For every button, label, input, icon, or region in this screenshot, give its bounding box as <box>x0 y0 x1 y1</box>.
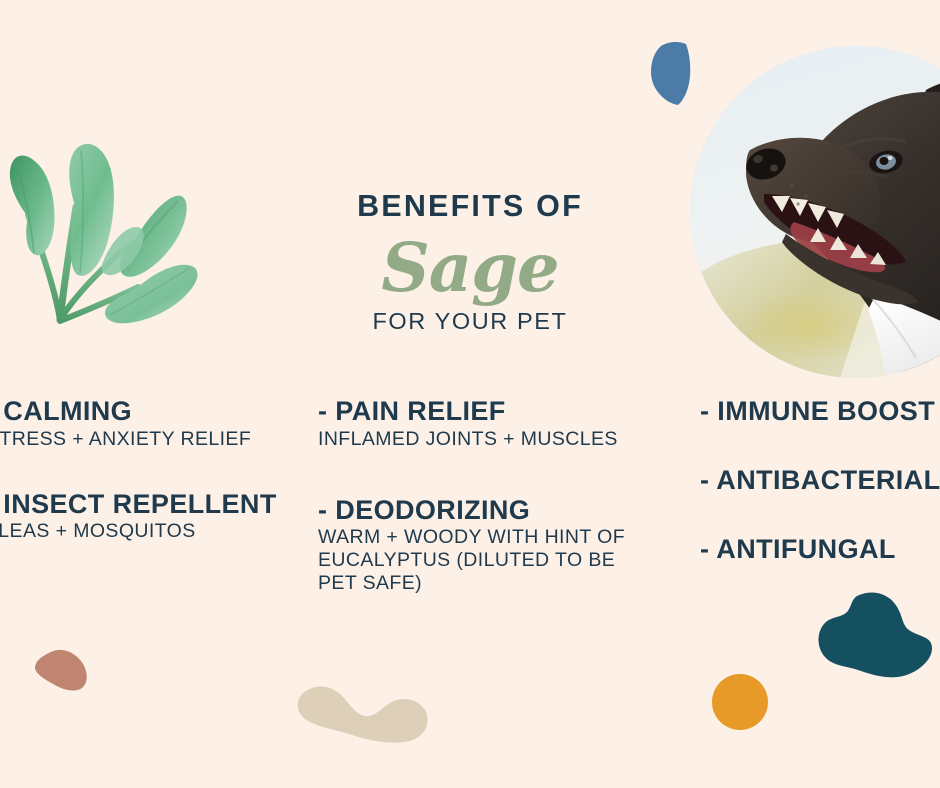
benefit-antibacterial-title: - ANTIBACTERIAL <box>700 465 940 496</box>
benefit-calming-desc: STRESS + ANXIETY RELIEF <box>0 428 286 451</box>
blue-crescent-shape <box>648 42 692 106</box>
heading-benefits-of: BENEFITS OF <box>268 190 672 224</box>
heading-sage-script: Sage <box>268 230 672 305</box>
benefit-pain-relief-title: - PAIN RELIEF <box>318 396 658 427</box>
title-block: BENEFITS OF Sage FOR YOUR PET <box>268 190 672 335</box>
sage-benefits-infographic: BENEFITS OF Sage FOR YOUR PET - CALMING … <box>0 0 940 788</box>
benefit-calming: - CALMING STRESS + ANXIETY RELIEF <box>0 396 286 451</box>
terracotta-teardrop-shape <box>35 649 89 691</box>
teal-blob-shape <box>815 592 933 678</box>
benefit-insect-repellent-desc: FLEAS + MOSQUITOS <box>0 520 286 543</box>
benefit-deodorizing: - DEODORIZING WARM + WOODY WITH HINT OF … <box>318 495 658 595</box>
orange-circle-shape <box>712 674 768 730</box>
benefit-calming-title: - CALMING <box>0 396 286 427</box>
benefit-antifungal-title: - ANTIFUNGAL <box>700 534 940 565</box>
benefit-deodorizing-title: - DEODORIZING <box>318 495 658 526</box>
dog-portrait-photo <box>690 46 940 378</box>
benefit-insect-repellent-title: - INSECT REPELLENT <box>0 489 286 520</box>
benefit-immune-boost: - IMMUNE BOOST <box>700 396 940 427</box>
benefit-deodorizing-desc: WARM + WOODY WITH HINT OF EUCALYPTUS (DI… <box>318 526 658 594</box>
benefits-column-left: - CALMING STRESS + ANXIETY RELIEF - INSE… <box>0 396 286 569</box>
benefit-pain-relief: - PAIN RELIEF INFLAMED JOINTS + MUSCLES <box>318 396 658 451</box>
beige-wave-shape <box>296 683 430 743</box>
benefit-antifungal: - ANTIFUNGAL <box>700 534 940 565</box>
benefit-insect-repellent: - INSECT REPELLENT FLEAS + MOSQUITOS <box>0 489 286 544</box>
benefits-column-middle: - PAIN RELIEF INFLAMED JOINTS + MUSCLES … <box>318 396 658 621</box>
sage-leaves-illustration <box>0 135 224 350</box>
heading-for-your-pet: FOR YOUR PET <box>268 307 672 335</box>
benefit-immune-boost-title: - IMMUNE BOOST <box>700 396 940 427</box>
benefits-column-right: - IMMUNE BOOST - ANTIBACTERIAL - ANTIFUN… <box>700 396 940 602</box>
benefit-pain-relief-desc: INFLAMED JOINTS + MUSCLES <box>318 428 658 451</box>
benefit-antibacterial: - ANTIBACTERIAL <box>700 465 940 496</box>
